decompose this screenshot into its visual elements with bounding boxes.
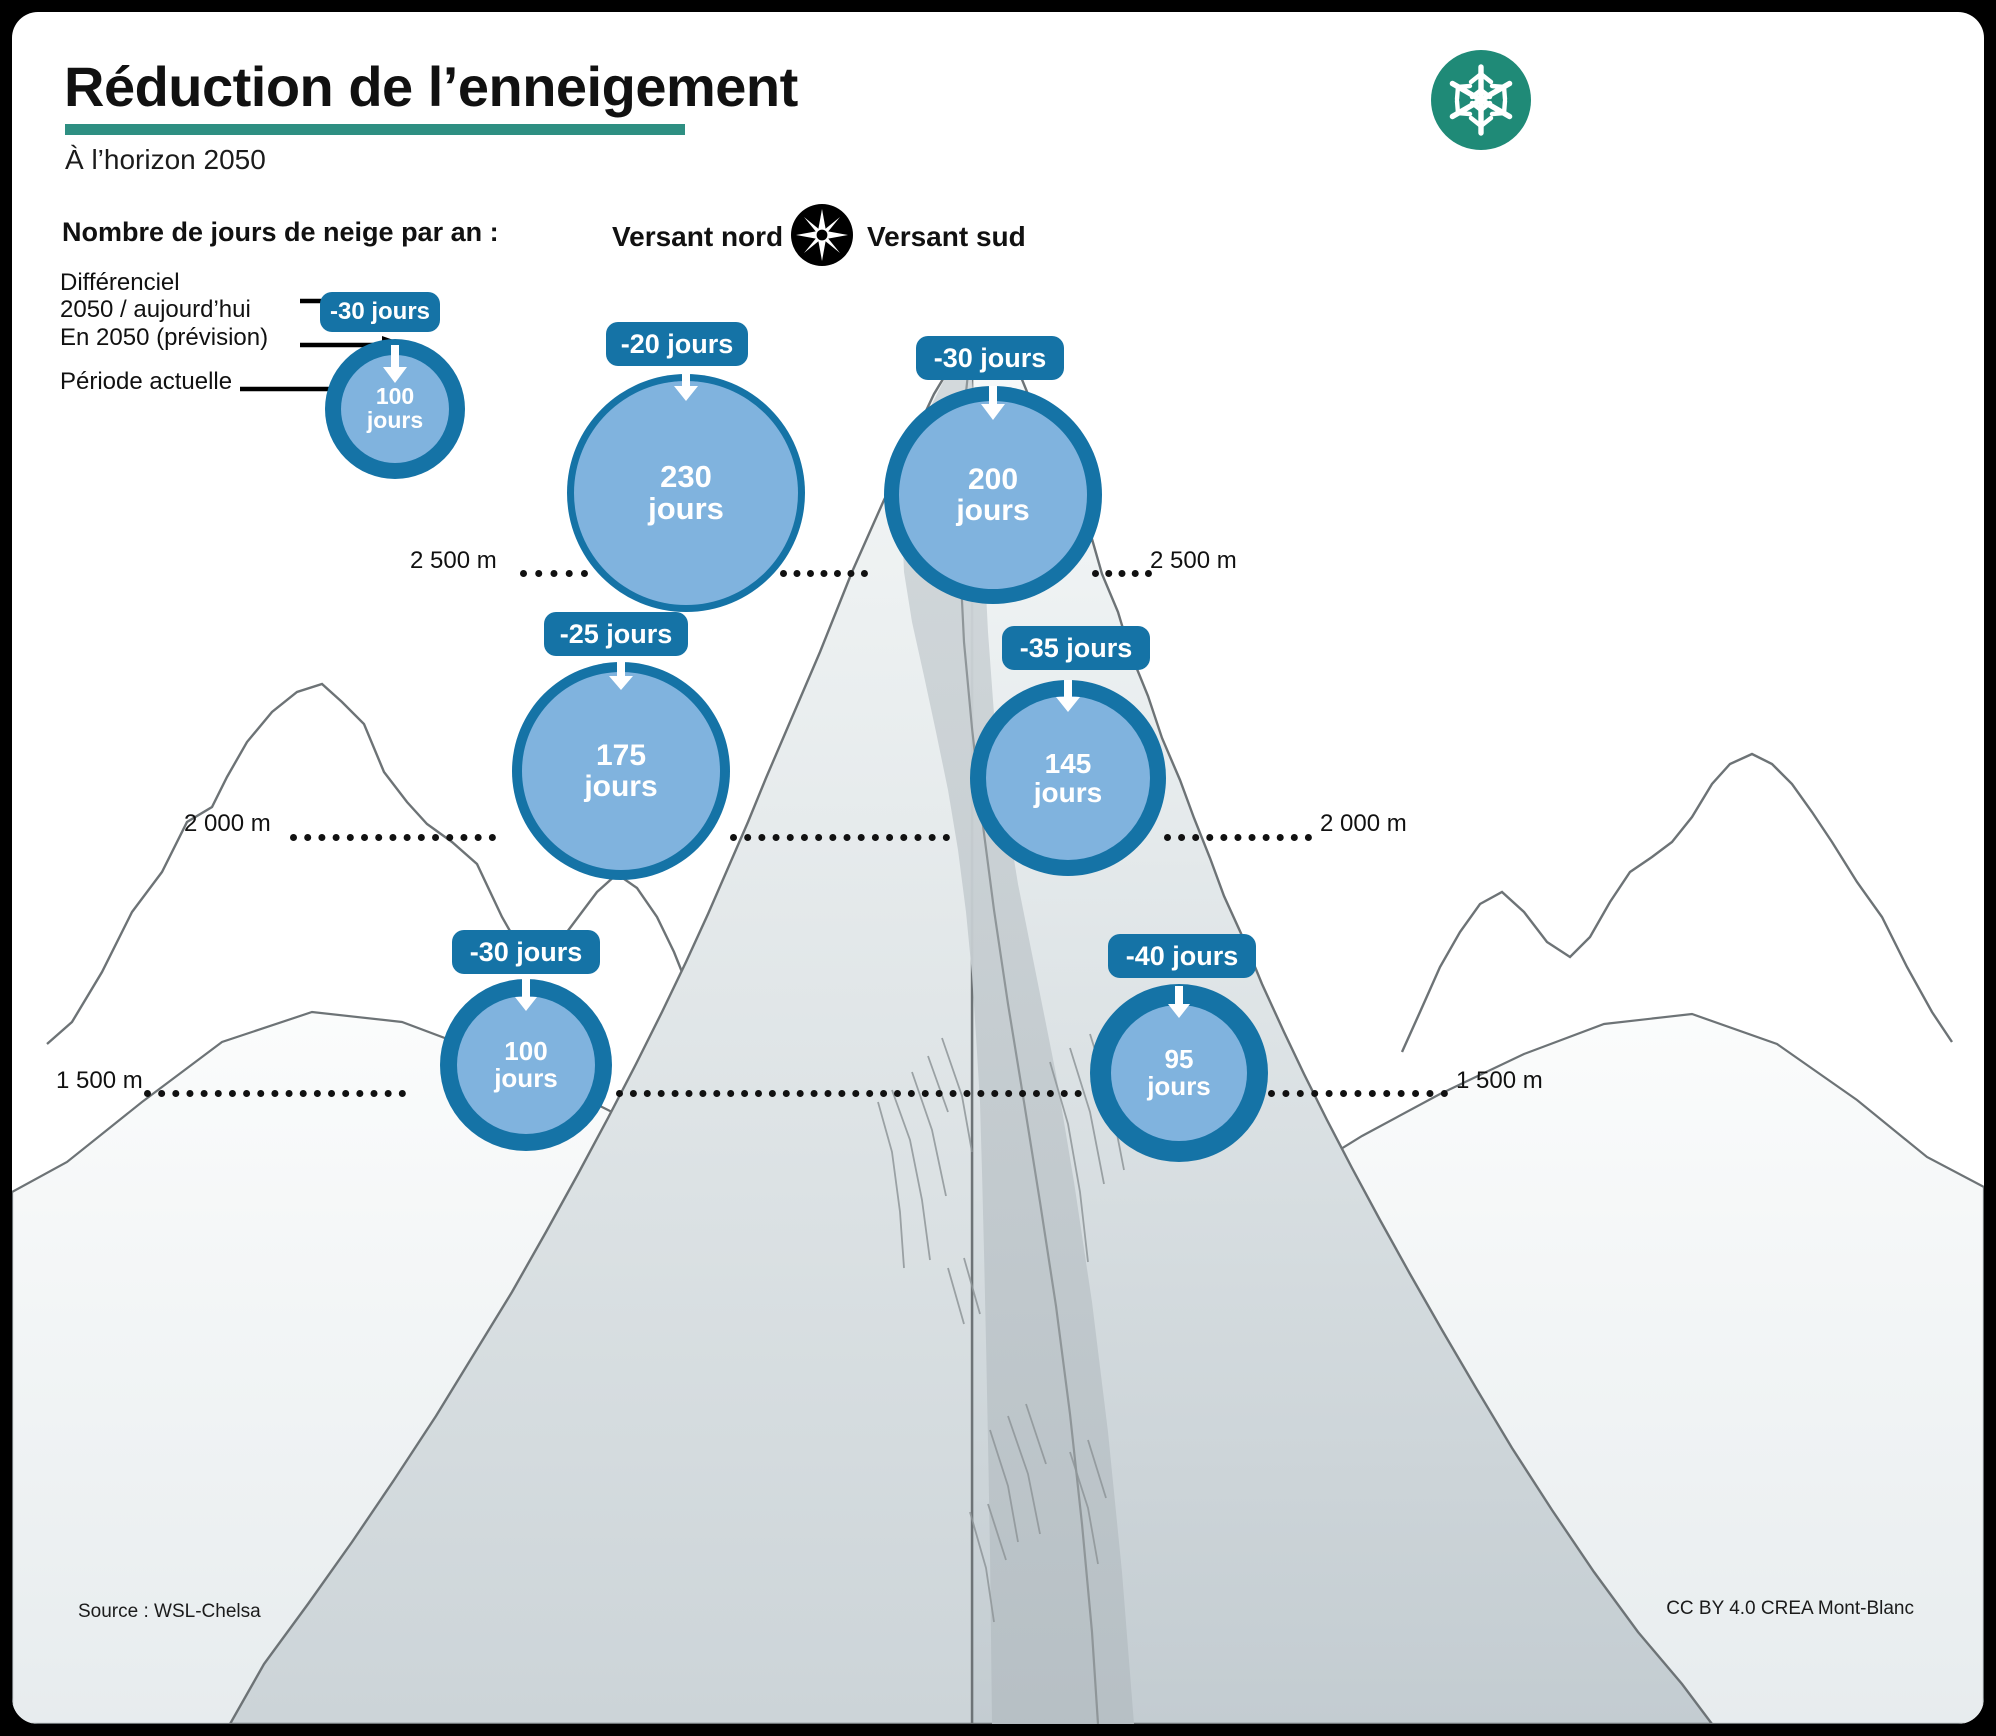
bubble-nord-1500-value: 100 bbox=[504, 1038, 547, 1065]
bubble-sud-2000-unit: jours bbox=[1034, 778, 1102, 807]
badge-sud-2000: -35 jours bbox=[1002, 626, 1150, 670]
bubble-nord-2500-inner: 230 jours bbox=[574, 381, 798, 605]
bubble-sud-1500-value: 95 bbox=[1165, 1046, 1194, 1073]
badge-nord-1500: -30 jours bbox=[452, 930, 600, 974]
bubble-sud-2000-inner: 145 jours bbox=[986, 696, 1150, 860]
page-subtitle: À l’horizon 2050 bbox=[65, 144, 266, 176]
bubble-nord-1500-unit: jours bbox=[494, 1065, 558, 1092]
label-versant-nord: Versant nord bbox=[612, 221, 783, 253]
bubble-nord-2000-unit: jours bbox=[584, 771, 657, 802]
bubble-sud-2500[interactable]: 200 jours bbox=[884, 386, 1102, 604]
infographic-frame: Réduction de l’enneigement À l’horizon 2… bbox=[0, 0, 1996, 1736]
bubble-sud-1500-inner: 95 jours bbox=[1111, 1005, 1247, 1141]
bubble-nord-2500[interactable]: 230 jours bbox=[567, 374, 805, 612]
legend-sample-badge: -30 jours bbox=[320, 292, 440, 332]
label-versant-sud: Versant sud bbox=[867, 221, 1026, 253]
bubble-nord-2500-down-arrow-icon bbox=[671, 371, 701, 403]
bubble-nord-1500-down-arrow-icon bbox=[513, 979, 539, 1013]
compass-rose-icon bbox=[791, 204, 853, 266]
bubble-sud-2500-down-arrow-icon bbox=[979, 386, 1007, 422]
legend-label-differential-line1: Différenciel bbox=[60, 269, 180, 296]
bubble-nord-2500-unit: jours bbox=[648, 493, 724, 525]
bubble-sud-1500[interactable]: 95 jours bbox=[1090, 984, 1268, 1162]
bubble-sud-2000-value: 145 bbox=[1045, 749, 1092, 778]
legend-label-2050: En 2050 (prévision) bbox=[60, 324, 268, 351]
legend-row-current: Période actuelle bbox=[60, 369, 232, 396]
infographic-card: Réduction de l’enneigement À l’horizon 2… bbox=[12, 12, 1984, 1724]
altitude-dots-1500-left-inner bbox=[616, 1090, 1082, 1097]
snowflake-logo bbox=[1431, 50, 1531, 150]
bubble-sud-2500-value: 200 bbox=[968, 464, 1018, 495]
altitude-label-2500-left: 2 500 m bbox=[410, 547, 497, 575]
bubble-sud-2000-down-arrow-icon bbox=[1054, 680, 1082, 714]
bubble-nord-1500-inner: 100 jours bbox=[457, 996, 595, 1134]
legend-label-current: Période actuelle bbox=[60, 368, 232, 395]
bubble-nord-2500-value: 230 bbox=[660, 461, 712, 493]
source-label: Source : WSL-Chelsa bbox=[78, 1601, 261, 1623]
bubble-nord-2000-inner: 175 jours bbox=[522, 672, 720, 870]
altitude-label-1500-left: 1 500 m bbox=[56, 1067, 143, 1095]
legend-row-2050: En 2050 (prévision) bbox=[60, 325, 268, 352]
legend-label-differential-line2: 2050 / aujourd’hui bbox=[60, 296, 251, 323]
bubble-nord-1500[interactable]: 100 jours bbox=[440, 979, 612, 1151]
legend-title: Nombre de jours de neige par an : bbox=[62, 217, 499, 248]
altitude-dots-2000-left-inner bbox=[730, 834, 950, 841]
legend-sample-value: 100 bbox=[376, 385, 414, 409]
altitude-label-1500-right: 1 500 m bbox=[1456, 1067, 1543, 1095]
altitude-dots-1500-right bbox=[1268, 1090, 1448, 1097]
bubble-nord-2000-down-arrow-icon bbox=[607, 660, 635, 692]
badge-sud-1500: -40 jours bbox=[1108, 934, 1256, 978]
bubble-nord-2000-value: 175 bbox=[596, 740, 646, 771]
badge-sud-2500: -30 jours bbox=[916, 336, 1064, 380]
bubble-sud-2500-unit: jours bbox=[956, 495, 1029, 526]
snowflake-icon bbox=[1431, 50, 1531, 150]
page-title: Réduction de l’enneigement bbox=[64, 54, 798, 119]
bubble-sud-2000[interactable]: 145 jours bbox=[970, 680, 1166, 876]
legend-sample-bubble: 100 jours bbox=[325, 339, 465, 479]
bubble-sud-1500-unit: jours bbox=[1147, 1073, 1211, 1100]
altitude-label-2500-right: 2 500 m bbox=[1150, 547, 1237, 575]
legend-row-differential: Différenciel 2050 / aujourd’hui bbox=[60, 270, 251, 324]
badge-nord-2000: -25 jours bbox=[544, 612, 688, 656]
altitude-label-2000-right: 2 000 m bbox=[1320, 810, 1407, 838]
title-underline-rule bbox=[65, 124, 685, 135]
bubble-nord-2000[interactable]: 175 jours bbox=[512, 662, 730, 880]
altitude-dots-2000-left-outer bbox=[290, 834, 496, 841]
altitude-dots-2000-right bbox=[1164, 834, 1312, 841]
altitude-label-2000-left: 2 000 m bbox=[184, 810, 271, 838]
legend-sample-down-arrow-icon bbox=[381, 345, 409, 385]
badge-nord-2500: -20 jours bbox=[606, 322, 748, 366]
credit-label: CC BY 4.0 CREA Mont-Blanc bbox=[1354, 1598, 1914, 1620]
altitude-dots-1500-left-outer bbox=[144, 1090, 406, 1097]
legend-sample-unit: jours bbox=[367, 409, 423, 433]
bubble-sud-2500-inner: 200 jours bbox=[899, 401, 1087, 589]
bubble-sud-1500-down-arrow-icon bbox=[1166, 986, 1192, 1020]
